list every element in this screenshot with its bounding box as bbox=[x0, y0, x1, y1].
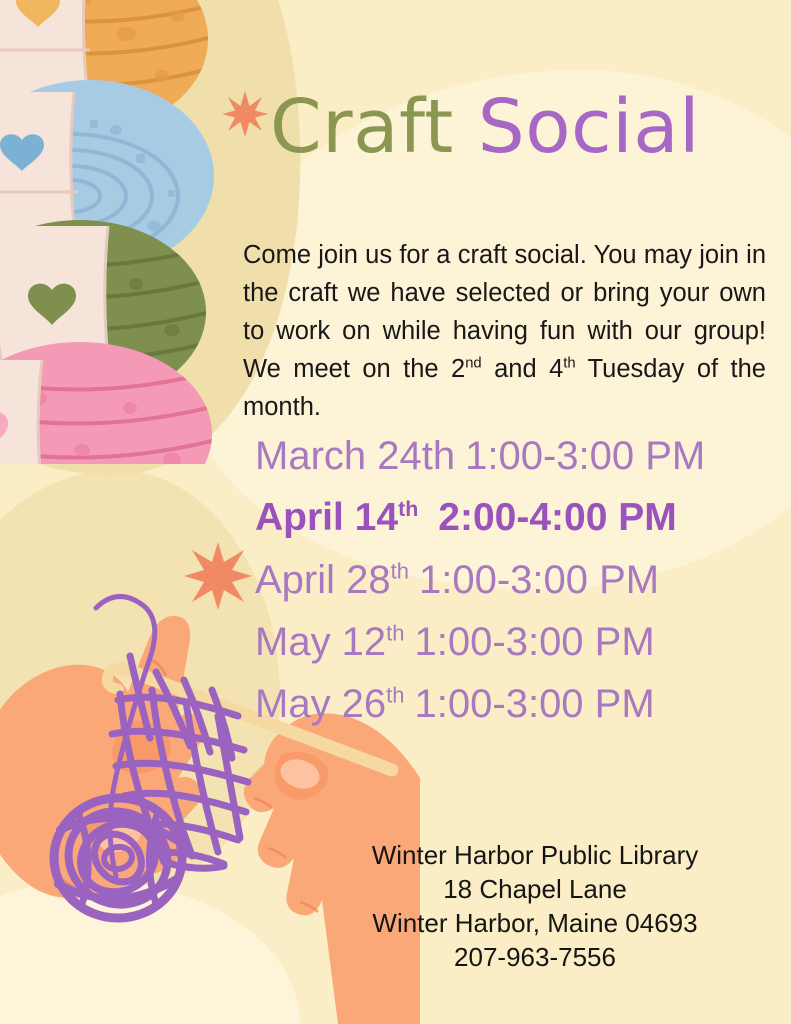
venue-city-state-zip: Winter Harbor, Maine 04693 bbox=[300, 906, 770, 940]
event-date: May 26 bbox=[255, 682, 386, 726]
event-date: April 28 bbox=[255, 558, 391, 602]
venue-phone: 207-963-7556 bbox=[300, 940, 770, 974]
event-date-ordinal: th bbox=[391, 559, 409, 584]
event-date: April 14 bbox=[255, 496, 398, 539]
event-date-ordinal: th bbox=[386, 683, 404, 708]
starburst-icon bbox=[184, 542, 252, 610]
flyer-title: Craft Social bbox=[222, 72, 782, 182]
title-word-social: Social bbox=[478, 90, 700, 164]
body-ordinal-th: th bbox=[563, 355, 575, 371]
event-date-item: May 26th1:00-3:00 PM bbox=[255, 673, 755, 735]
event-time: 1:00-3:00 PM bbox=[415, 682, 655, 726]
event-time: 1:00-3:00 PM bbox=[415, 620, 655, 664]
event-date-ordinal: th bbox=[398, 497, 418, 521]
venue-street: 18 Chapel Lane bbox=[300, 872, 770, 906]
event-time: 2:00-4:00 PM bbox=[438, 496, 676, 539]
event-date-item: May 12th1:00-3:00 PM bbox=[255, 611, 755, 673]
body-text-mid: and 4 bbox=[482, 355, 564, 383]
body-paragraph: Come join us for a craft social. You may… bbox=[243, 236, 766, 426]
craft-social-flyer: Craft Social Come join us for a craft so… bbox=[0, 0, 791, 1024]
event-date-ordinal: th bbox=[386, 621, 404, 646]
event-date: May 12 bbox=[255, 620, 386, 664]
event-date-item: March 24th1:00-3:00 PM bbox=[255, 425, 755, 487]
venue-name: Winter Harbor Public Library bbox=[300, 838, 770, 872]
venue-address-block: Winter Harbor Public Library 18 Chapel L… bbox=[300, 838, 770, 974]
body-ordinal-nd: nd bbox=[465, 355, 481, 371]
event-date-item-highlighted: April 14th2:00-4:00 PM bbox=[255, 487, 755, 549]
event-date-item: April 28th1:00-3:00 PM bbox=[255, 549, 755, 611]
event-time: 1:00-3:00 PM bbox=[419, 558, 659, 602]
starburst-icon bbox=[222, 91, 268, 137]
event-date-list: March 24th1:00-3:00 PM April 14th2:00-4:… bbox=[255, 425, 755, 735]
title-word-craft: Craft bbox=[270, 90, 454, 164]
event-time: 1:00-3:00 PM bbox=[465, 434, 705, 478]
yarn-skein-stack bbox=[0, 0, 240, 464]
event-date: March 24th bbox=[255, 434, 455, 478]
